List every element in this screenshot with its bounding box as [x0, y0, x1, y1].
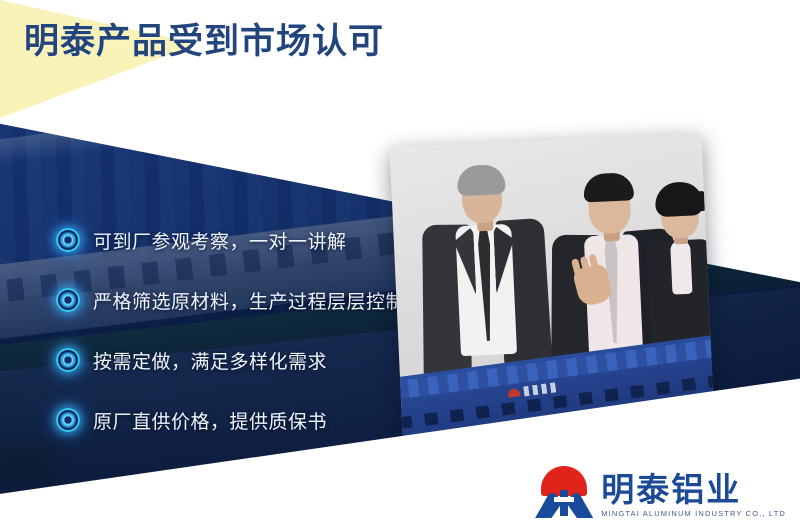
blouse [670, 240, 692, 295]
target-dot-icon [56, 408, 80, 432]
target-dot-icon [56, 348, 80, 372]
list-item: 按需定做，满足多样化需求 [56, 330, 396, 390]
list-item: 原厂直供价格，提供质保书 [56, 390, 396, 450]
feature-list: 可到厂参观考察，一对一讲解 严格筛选原材料，生产过程层层控制 按需定做，满足多样… [56, 210, 396, 450]
list-item: 严格筛选原材料，生产过程层层控制 [56, 270, 396, 330]
logo-english-name: MINGTAI ALUMINUM INDUSTRY CO., LTD [601, 509, 786, 518]
hair [456, 164, 505, 196]
feature-text: 可到厂参观考察，一对一讲解 [93, 227, 347, 254]
logo-wordmark [523, 382, 558, 396]
mingtai-sun-mountain-icon [535, 466, 593, 518]
business-people-photo [390, 133, 715, 439]
list-item: 可到厂参观考察，一对一讲解 [56, 210, 396, 270]
logo-text-block: 明泰铝业 MINGTAI ALUMINUM INDUSTRY CO., LTD [601, 473, 786, 518]
target-dot-icon [56, 228, 80, 252]
feature-text: 原厂直供价格，提供质保书 [93, 407, 327, 434]
hair [583, 172, 634, 202]
logo-chinese-name: 明泰铝业 [601, 473, 786, 506]
feature-text: 按需定做，满足多样化需求 [93, 347, 327, 374]
cross-emblem [560, 490, 568, 516]
target-dot-icon [56, 288, 80, 312]
logo-sun-mark [507, 388, 520, 398]
feature-text: 严格筛选原材料，生产过程层层控制 [93, 287, 405, 314]
promo-banner: 明泰产品受到市场认可 可到厂参观考察，一对一讲解 严格筛选原材料，生产过程层层控… [0, 0, 800, 530]
page-title: 明泰产品受到市场认可 [24, 25, 384, 60]
company-logo: 明泰铝业 MINGTAI ALUMINUM INDUSTRY CO., LTD [535, 466, 786, 518]
